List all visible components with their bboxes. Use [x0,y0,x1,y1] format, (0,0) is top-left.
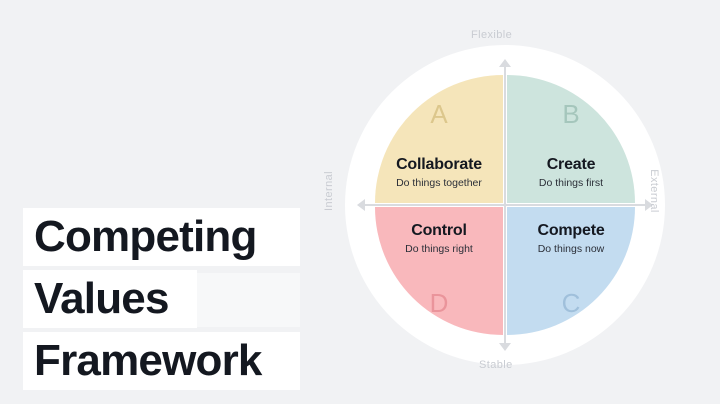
page-title-line-3: Framework [23,332,300,390]
quadrant-body-control: Control Do things right [375,221,503,257]
quadrant-letter-d: D [375,288,503,319]
quadrant-body-create: Create Do things first [507,155,635,191]
quadrant-create[interactable]: B Create Do things first [507,75,635,203]
axis-label-stable: Stable [479,359,513,371]
axis-label-internal: Internal [323,171,335,211]
arrow-down-icon [499,343,511,351]
quadrant-title-compete: Compete [507,221,635,241]
quadrant-title-create: Create [507,155,635,175]
quadrant-compete[interactable]: Compete Do things now C [507,207,635,335]
quadrant-letter-a: A [375,99,503,130]
quadrant-title-collaborate: Collaborate [375,155,503,175]
title-ghost-panel [196,273,300,327]
quadrant-subtitle-collaborate: Do things together [375,175,503,191]
quadrant-body-compete: Compete Do things now [507,221,635,257]
quadrant-letter-b: B [507,99,635,130]
quadrant-control[interactable]: Control Do things right D [375,207,503,335]
arrow-up-icon [499,59,511,67]
quadrant-title-control: Control [375,221,503,241]
page-title-line-2: Values [23,270,197,328]
competing-values-diagram: A Collaborate Do things together B Creat… [345,45,665,365]
axis-label-external: External [648,169,660,213]
quadrant-letter-c: C [507,288,635,319]
horizontal-axis-line [365,204,645,206]
axis-label-flexible: Flexible [471,29,512,41]
quadrant-subtitle-compete: Do things now [507,241,635,257]
quadrant-subtitle-create: Do things first [507,175,635,191]
quadrant-collaborate[interactable]: A Collaborate Do things together [375,75,503,203]
quadrant-subtitle-control: Do things right [375,241,503,257]
page-title-line-1: Competing [23,208,300,266]
page-title: Competing Values Framework [0,100,320,300]
quadrant-body-collaborate: Collaborate Do things together [375,155,503,191]
arrow-left-icon [357,199,365,211]
